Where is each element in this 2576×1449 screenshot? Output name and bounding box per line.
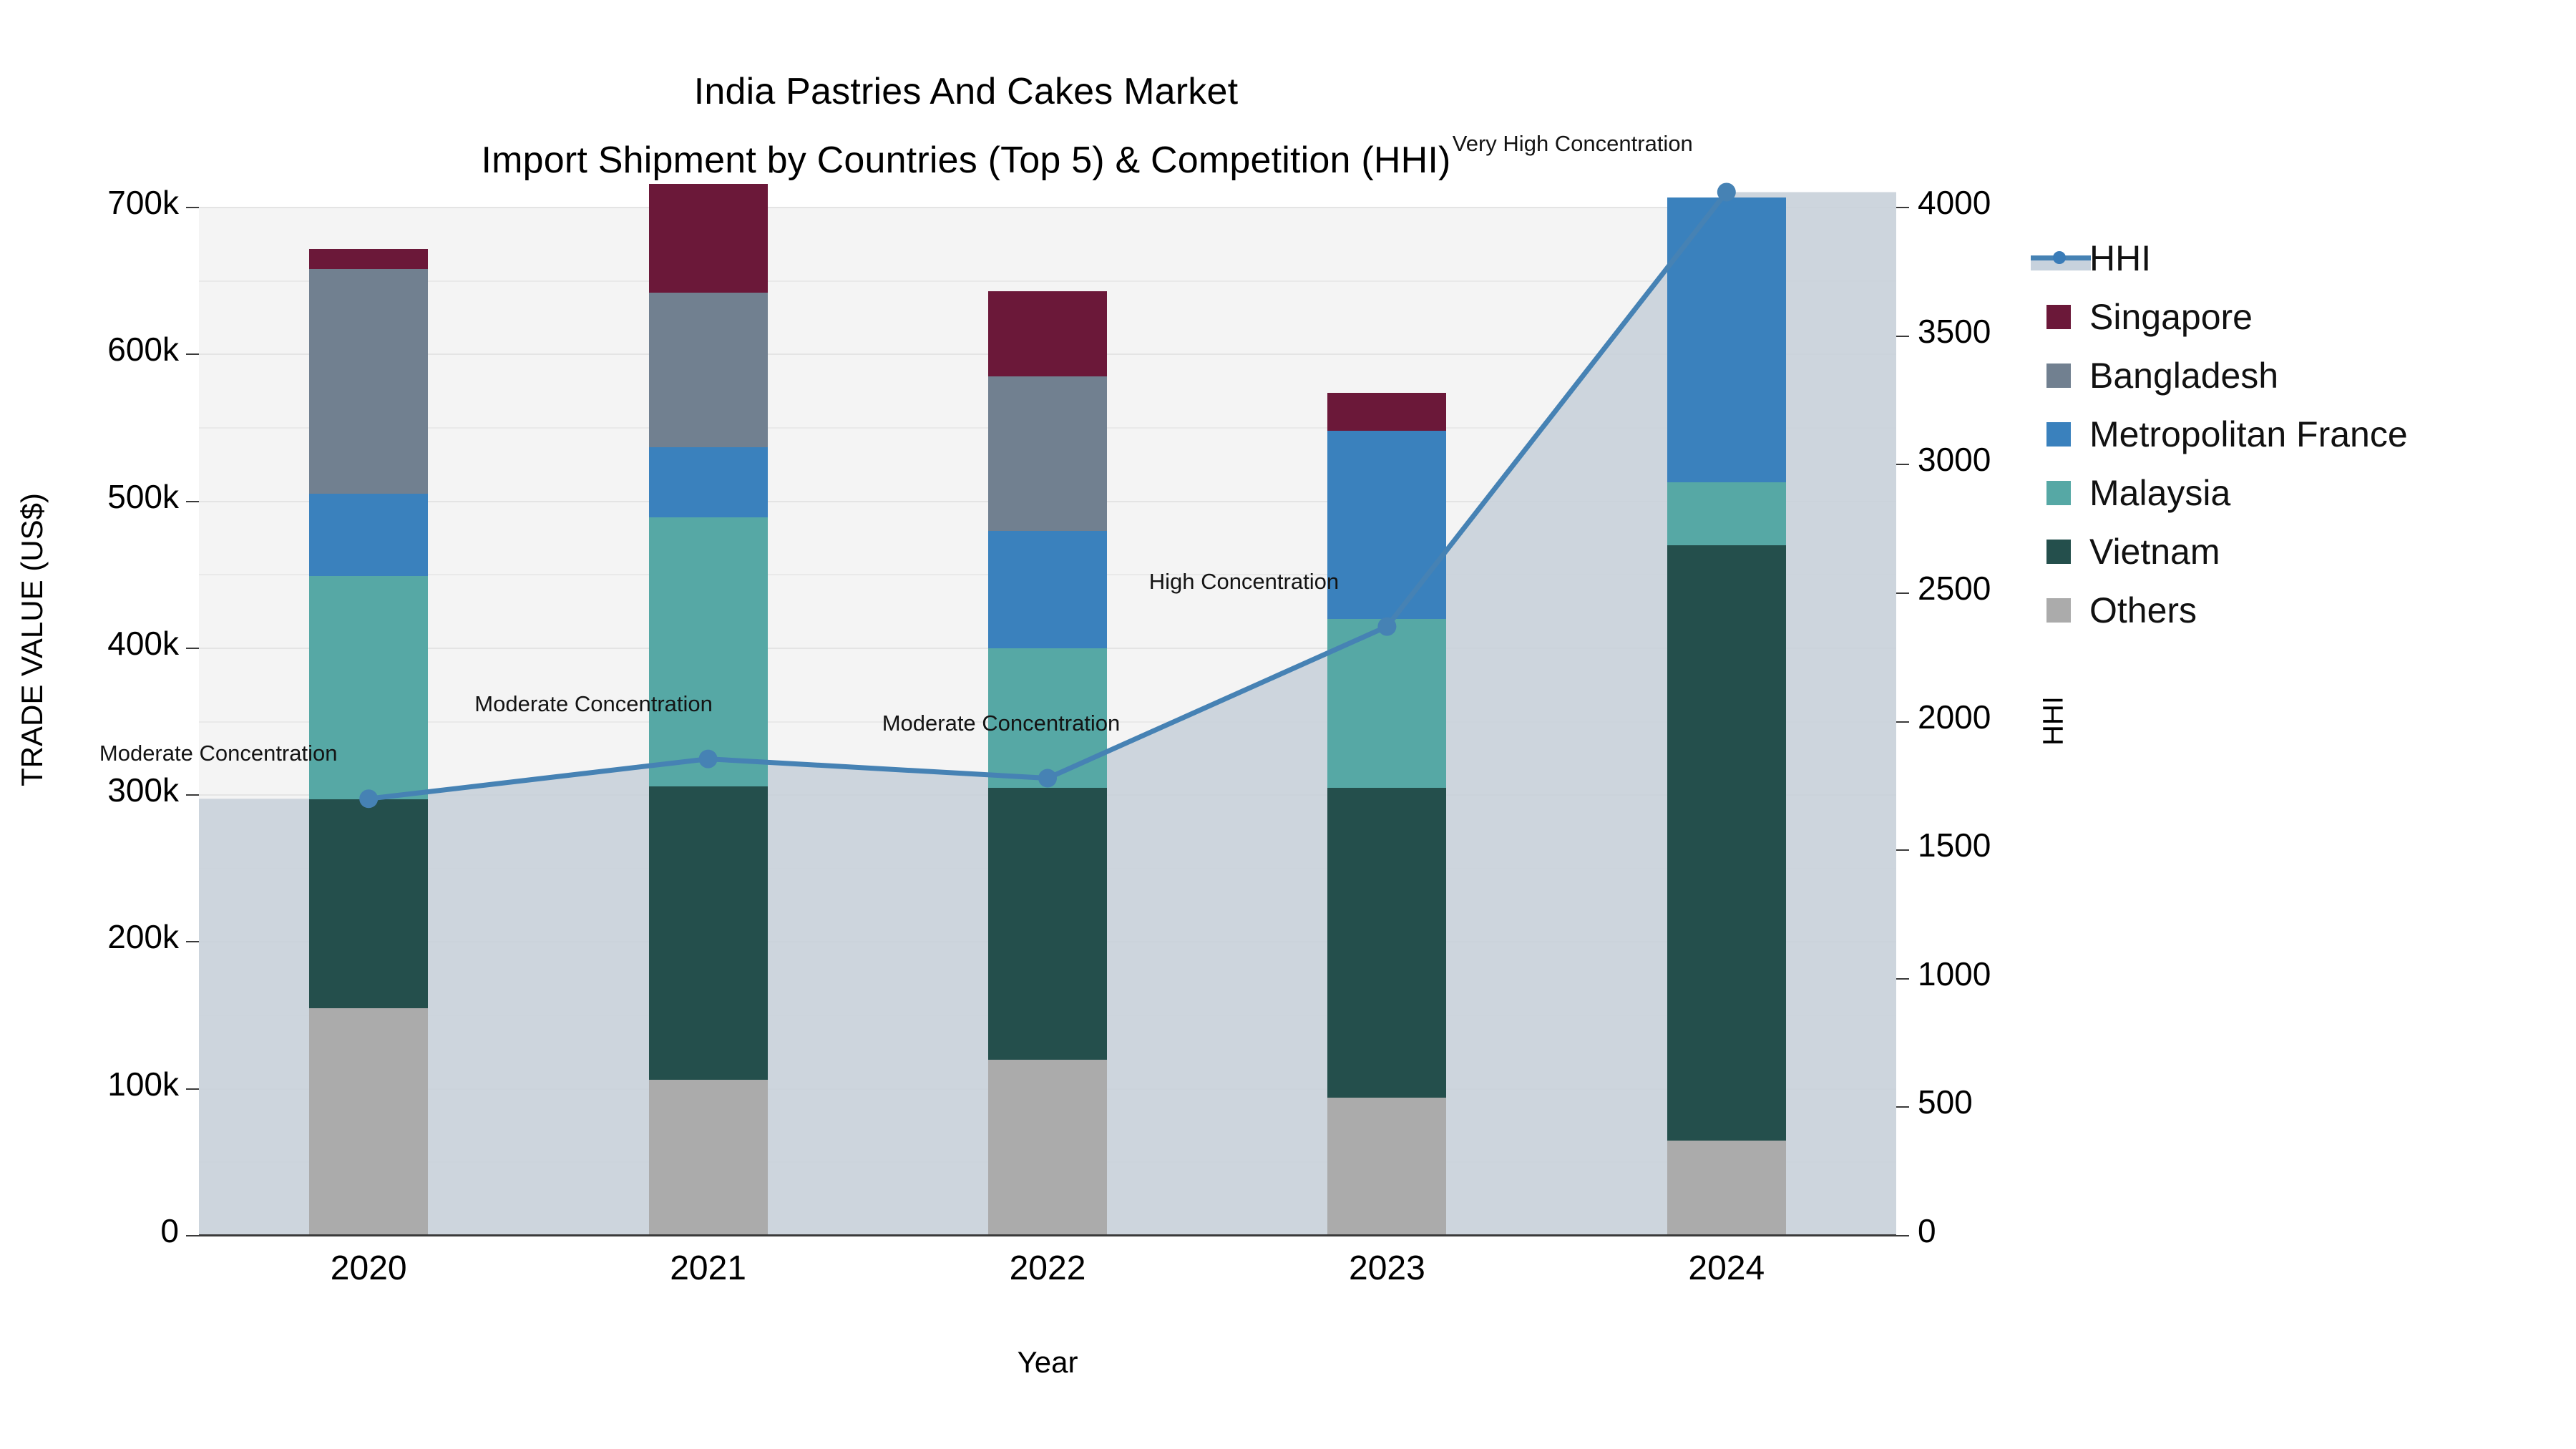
legend-item-hhi[interactable]: HHI <box>2046 229 2562 288</box>
legend-item-vietnam[interactable]: Vietnam <box>2046 522 2562 581</box>
x-axis-tick-label-2022: 2022 <box>940 1249 1155 1288</box>
y-axis-left-tick-label: 0 <box>0 1214 179 1247</box>
hhi-marker-2022[interactable] <box>1038 769 1057 788</box>
legend-swatch-icon <box>2046 481 2071 505</box>
legend-item-label: Singapore <box>2089 296 2253 338</box>
legend-item-others[interactable]: Others <box>2046 581 2562 640</box>
x-axis-tick-label-2024: 2024 <box>1619 1249 1834 1288</box>
y-axis-right-tick-mark <box>1896 849 1909 851</box>
y-axis-right-tick-mark <box>1896 978 1909 980</box>
x-axis-label: Year <box>199 1345 1896 1380</box>
legend-item-label: Bangladesh <box>2089 355 2278 396</box>
chart-title-line-2: Import Shipment by Countries (Top 5) & C… <box>0 126 1932 195</box>
legend-item-metropolitan-france[interactable]: Metropolitan France <box>2046 405 2562 464</box>
legend-item-label: Others <box>2089 590 2197 631</box>
y-axis-left-tick-mark <box>186 794 199 796</box>
y-axis-right-tick-mark <box>1896 1235 1909 1236</box>
hhi-marker-2024[interactable] <box>1717 182 1736 201</box>
legend-item-label: Malaysia <box>2089 472 2230 514</box>
y-axis-right-tick-mark <box>1896 464 1909 465</box>
hhi-line-layer <box>199 208 1896 1236</box>
plot-area <box>199 208 1896 1236</box>
chart-title: India Pastries And Cakes Market Import S… <box>0 57 1932 195</box>
y-axis-right-tick-label: 0 <box>1918 1214 2104 1247</box>
y-axis-left-tick-mark <box>186 501 199 502</box>
legend-item-malaysia[interactable]: Malaysia <box>2046 464 2562 522</box>
y-axis-right-tick-mark <box>1896 721 1909 723</box>
y-axis-right-tick-label: 2000 <box>1918 701 2104 733</box>
y-axis-left-tick-mark <box>186 353 199 355</box>
legend-item-label: Metropolitan France <box>2089 414 2408 455</box>
y-axis-right-tick-mark <box>1896 1106 1909 1108</box>
legend-swatch-icon <box>2046 305 2071 329</box>
y-axis-right-tick-label: 1500 <box>1918 829 2104 862</box>
hhi-line-svg <box>199 208 1896 1236</box>
y-axis-left-tick-label: 100k <box>0 1068 179 1101</box>
y-axis-left-tick-mark <box>186 1235 199 1236</box>
y-axis-right-tick-label: 500 <box>1918 1085 2104 1118</box>
chart-title-line-1: India Pastries And Cakes Market <box>0 57 1932 126</box>
legend-item-singapore[interactable]: Singapore <box>2046 288 2562 346</box>
y-axis-right-tick-mark <box>1896 336 1909 337</box>
y-axis-left-tick-mark <box>186 648 199 649</box>
legend-swatch-icon <box>2046 540 2071 564</box>
y-axis-left-tick-mark <box>186 941 199 942</box>
legend-swatch-icon <box>2046 422 2071 447</box>
hhi-marker-2023[interactable] <box>1377 618 1396 636</box>
y-axis-right-tick-mark <box>1896 207 1909 208</box>
legend-swatch-icon <box>2046 598 2071 623</box>
y-axis-left-tick-mark <box>186 207 199 208</box>
legend-swatch-icon <box>2046 364 2071 388</box>
legend-item-bangladesh[interactable]: Bangladesh <box>2046 346 2562 405</box>
x-axis-line <box>199 1234 1896 1236</box>
hhi-marker-2020[interactable] <box>359 789 378 808</box>
y-axis-right-tick-label: 4000 <box>1918 186 2104 219</box>
legend: HHISingaporeBangladeshMetropolitan Franc… <box>2046 229 2562 640</box>
x-axis-tick-label-2021: 2021 <box>601 1249 816 1288</box>
y-axis-right-tick-label: 1000 <box>1918 957 2104 990</box>
y-axis-left-tick-mark <box>186 1088 199 1090</box>
y-axis-left-label: TRADE VALUE (US$) <box>15 210 49 1069</box>
chart-canvas: India Pastries And Cakes Market Import S… <box>0 0 2576 1449</box>
y-axis-right-tick-mark <box>1896 592 1909 594</box>
legend-line-icon <box>2046 246 2071 270</box>
x-axis-tick-label-2020: 2020 <box>261 1249 476 1288</box>
legend-item-label: Vietnam <box>2089 531 2220 572</box>
x-axis-tick-label-2023: 2023 <box>1279 1249 1494 1288</box>
legend-item-label: HHI <box>2089 238 2151 279</box>
hhi-marker-2021[interactable] <box>699 750 718 769</box>
